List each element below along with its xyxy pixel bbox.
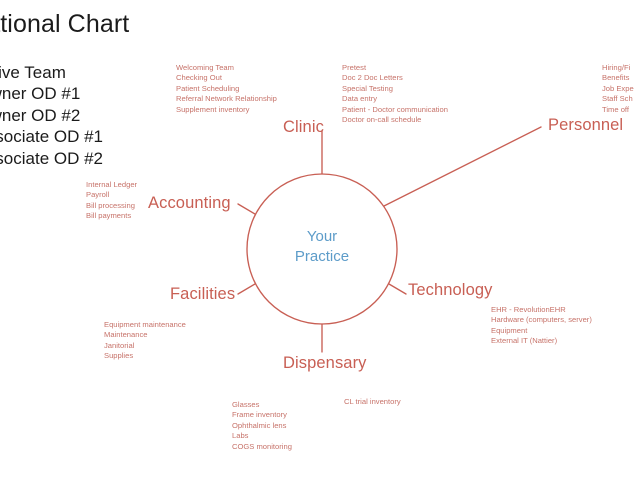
detail-item: Hardware (computers, server) bbox=[491, 315, 592, 325]
detail-item: Doctor on-call schedule bbox=[342, 115, 448, 125]
detail-list-accounting: Internal Ledger Payroll Bill processing … bbox=[86, 180, 137, 222]
detail-item: Welcoming Team bbox=[176, 63, 277, 73]
detail-list-technology: EHR - RevolutionEHR Hardware (computers,… bbox=[491, 305, 592, 347]
detail-item: Referral Network Relationship bbox=[176, 94, 277, 104]
spoke-line-personnel bbox=[384, 127, 541, 206]
detail-item: Patient Scheduling bbox=[176, 84, 277, 94]
spoke-line-facilities bbox=[238, 284, 255, 294]
branch-label-dispensary[interactable]: Dispensary bbox=[283, 354, 367, 373]
detail-item: Supplement inventory bbox=[176, 105, 277, 115]
detail-item: COGS monitoring bbox=[232, 442, 292, 452]
detail-item: Hiring/Fi bbox=[602, 63, 634, 73]
detail-list-facilities: Equipment maintenance Maintenance Janito… bbox=[104, 320, 186, 362]
detail-item: Maintenance bbox=[104, 330, 186, 340]
detail-item: Equipment maintenance bbox=[104, 320, 186, 330]
hub-label-line1: Your bbox=[262, 227, 382, 247]
branch-label-technology[interactable]: Technology bbox=[408, 281, 492, 300]
detail-item: Patient - Doctor communication bbox=[342, 105, 448, 115]
detail-item: Bill processing bbox=[86, 201, 137, 211]
detail-item: Benefits bbox=[602, 73, 634, 83]
detail-item: Pretest bbox=[342, 63, 448, 73]
detail-item: Bill payments bbox=[86, 211, 137, 221]
organizational-chart-canvas: izational Chart ecutive Team - Owner OD … bbox=[0, 0, 640, 480]
detail-item: Frame inventory bbox=[232, 410, 292, 420]
branch-label-facilities[interactable]: Facilities bbox=[170, 285, 235, 304]
detail-item: Job Expe bbox=[602, 84, 634, 94]
detail-item: Labs bbox=[232, 431, 292, 441]
hub-label: Your Practice bbox=[262, 227, 382, 267]
detail-item: Ophthalmic lens bbox=[232, 421, 292, 431]
detail-item: CL trial inventory bbox=[344, 397, 401, 407]
detail-item: Payroll bbox=[86, 190, 137, 200]
detail-item: Internal Ledger bbox=[86, 180, 137, 190]
detail-list-clinic-b: Pretest Doc 2 Doc Letters Special Testin… bbox=[342, 63, 448, 125]
detail-item: Staff Sch bbox=[602, 94, 634, 104]
branch-label-personnel[interactable]: Personnel bbox=[548, 116, 623, 135]
detail-list-personnel: Hiring/Fi Benefits Job Expe Staff Sch Ti… bbox=[602, 63, 634, 115]
detail-item: Doc 2 Doc Letters bbox=[342, 73, 448, 83]
detail-list-dispensary-b: CL trial inventory bbox=[344, 397, 401, 407]
detail-item: Special Testing bbox=[342, 84, 448, 94]
detail-item: External IT (Nattier) bbox=[491, 336, 592, 346]
detail-item: Janitorial bbox=[104, 341, 186, 351]
hub-label-line2: Practice bbox=[262, 247, 382, 267]
detail-list-dispensary: Glasses Frame inventory Ophthalmic lens … bbox=[232, 400, 292, 452]
detail-item: Equipment bbox=[491, 326, 592, 336]
detail-item: Checking Out bbox=[176, 73, 277, 83]
spoke-line-technology bbox=[389, 284, 406, 294]
detail-list-clinic-a: Welcoming Team Checking Out Patient Sche… bbox=[176, 63, 277, 115]
detail-item: Supplies bbox=[104, 351, 186, 361]
detail-item: Data entry bbox=[342, 94, 448, 104]
detail-item: EHR - RevolutionEHR bbox=[491, 305, 592, 315]
branch-label-clinic[interactable]: Clinic bbox=[283, 118, 324, 137]
branch-label-accounting[interactable]: Accounting bbox=[148, 194, 231, 213]
detail-item: Time off bbox=[602, 105, 634, 115]
detail-item: Glasses bbox=[232, 400, 292, 410]
spoke-line-accounting bbox=[238, 204, 255, 214]
